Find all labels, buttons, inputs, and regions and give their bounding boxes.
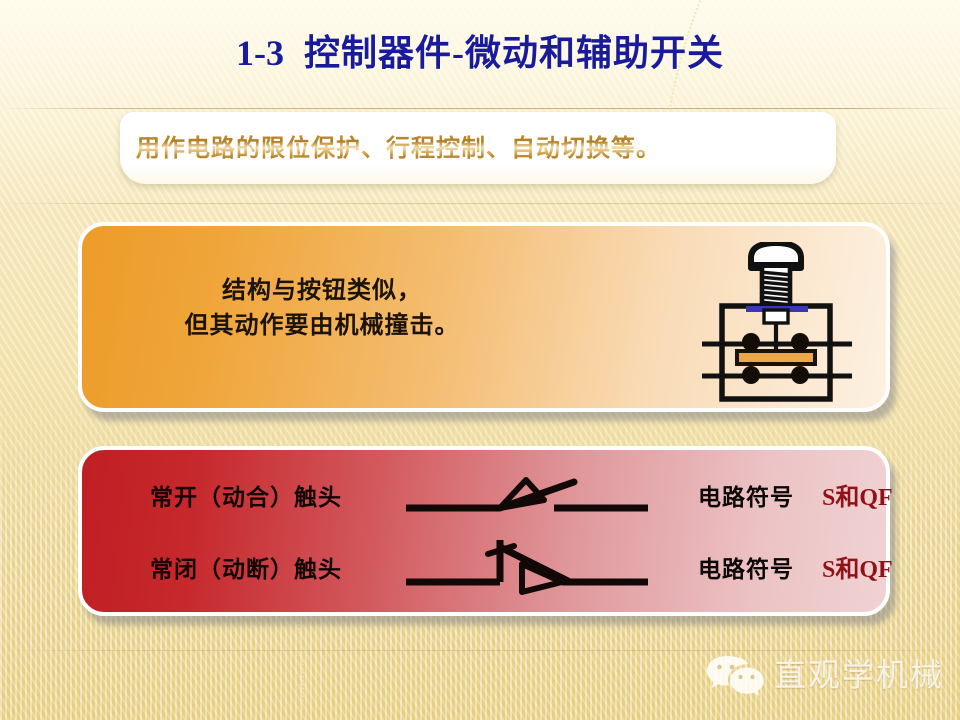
caption-box: 用作电路的限位保护、行程控制、自动切换等。 bbox=[120, 112, 836, 184]
contact-label-normally-closed: 常闭（动断）触头 bbox=[106, 550, 386, 584]
panel-structure-description: 结构与按钮类似， 但其动作要由机械撞击。 bbox=[78, 222, 890, 412]
plunger-stem-icon bbox=[764, 310, 788, 323]
title-label: 控制器件-微动和辅助开关 bbox=[304, 33, 724, 73]
orange-panel-line-2: 但其动作要由机械撞击。 bbox=[122, 309, 522, 344]
contact-dot-upper-left bbox=[742, 333, 760, 351]
title-number: 1-3 bbox=[236, 33, 284, 73]
contact-row-normally-open: 常开（动合）触头 电路符号 S和QF bbox=[82, 462, 886, 528]
divider-line-top bbox=[0, 108, 960, 109]
orange-contact-bridge-icon bbox=[737, 351, 815, 364]
contact-row-normally-closed: 常闭（动断）触头 电路符号 S和QF bbox=[82, 534, 886, 600]
divider-line-second bbox=[0, 203, 960, 204]
circuit-symbol-label-row2: 电路符号 bbox=[666, 550, 826, 584]
button-cap-icon bbox=[751, 243, 801, 269]
page-title: 1-3 控制器件-微动和辅助开关 bbox=[0, 24, 960, 76]
panel-contact-symbols: 常开（动合）触头 电路符号 S和QF 常闭（动断）触头 电路符号 bbox=[78, 446, 890, 616]
contact-dot-lower-left bbox=[742, 366, 760, 384]
circuit-symbol-label-row1: 电路符号 bbox=[666, 478, 826, 512]
wechat-logo-icon bbox=[706, 654, 764, 696]
watermark-brand-text: 直观学机械 bbox=[774, 650, 944, 696]
symbol-code-row2: S和QF bbox=[822, 549, 942, 584]
caption-text: 用作电路的限位保护、行程控制、自动切换等。 bbox=[136, 128, 661, 163]
watermark: 直观学机械 bbox=[700, 648, 950, 702]
contact-label-normally-open: 常开（动合）触头 bbox=[106, 478, 386, 512]
contact-dot-lower-right bbox=[791, 366, 809, 384]
contact-dot-upper-right bbox=[791, 333, 809, 351]
orange-panel-line-1: 结构与按钮类似， bbox=[122, 274, 522, 309]
orange-panel-text: 结构与按钮类似， 但其动作要由机械撞击。 bbox=[122, 274, 522, 344]
normally-open-contact-symbol bbox=[402, 462, 652, 528]
slide-canvas: 1-3 控制器件-微动和辅助开关 用作电路的限位保护、行程控制、自动切换等。 结… bbox=[0, 0, 960, 720]
symbol-code-row1: S和QF bbox=[822, 477, 942, 512]
normally-closed-contact-symbol bbox=[402, 534, 652, 600]
push-button-switch-diagram bbox=[694, 242, 884, 407]
